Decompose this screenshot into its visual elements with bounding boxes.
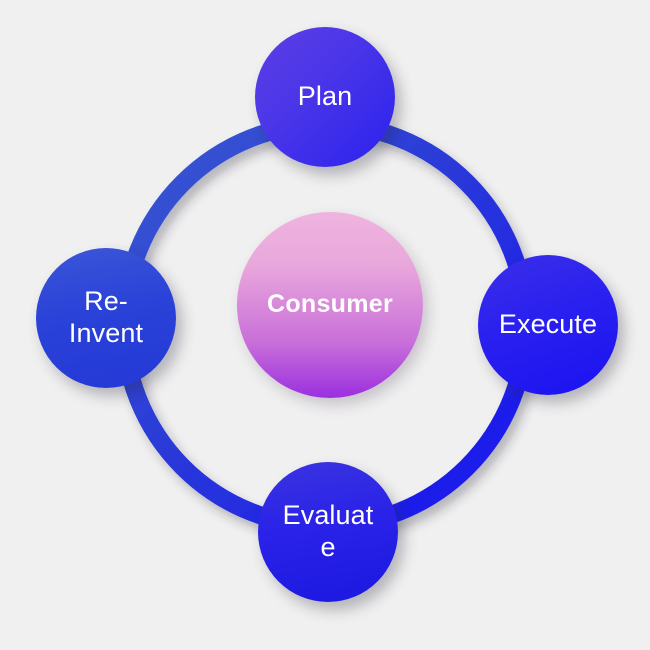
node-execute-label: Execute — [499, 309, 597, 341]
node-plan-label: Plan — [298, 81, 352, 113]
center-node-consumer[interactable]: Consumer — [237, 212, 423, 398]
node-plan[interactable]: Plan — [255, 27, 395, 167]
center-node-label: Consumer — [267, 290, 393, 320]
diagram-canvas: Consumer Plan Execute Evaluate Re-Invent — [0, 0, 650, 650]
node-reinvent[interactable]: Re-Invent — [36, 248, 176, 388]
node-evaluate-label: Evaluate — [276, 500, 380, 564]
node-evaluate[interactable]: Evaluate — [258, 462, 398, 602]
node-execute[interactable]: Execute — [478, 255, 618, 395]
node-reinvent-label: Re-Invent — [60, 286, 152, 350]
